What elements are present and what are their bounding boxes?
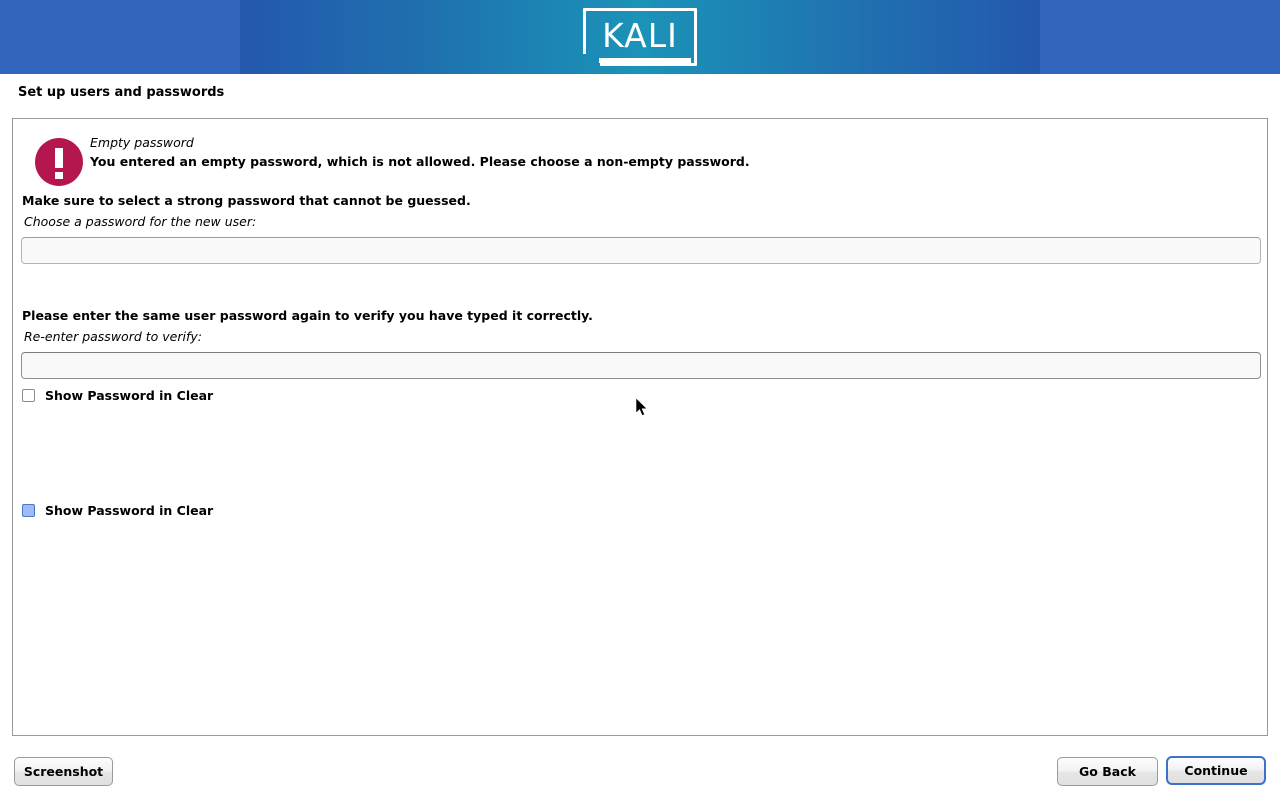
alert-message: You entered an empty password, which is … xyxy=(90,154,750,169)
exclamation-stem xyxy=(55,148,63,168)
installer-header-banner: KALI xyxy=(0,0,1280,74)
kali-logo: KALI xyxy=(583,8,697,66)
verify-password-input[interactable] xyxy=(21,352,1261,379)
continue-button[interactable]: Continue xyxy=(1166,756,1266,785)
page-title: Set up users and passwords xyxy=(18,85,224,100)
show-password-clear-checkbox-1[interactable] xyxy=(22,389,35,402)
exclamation-dot xyxy=(55,172,63,179)
show-password-clear-row-2[interactable]: Show Password in Clear xyxy=(22,503,213,518)
installer-content-panel: Empty password You entered an empty pass… xyxy=(12,118,1268,736)
show-password-clear-label-2: Show Password in Clear xyxy=(45,503,213,518)
password-heading: Make sure to select a strong password th… xyxy=(22,193,471,208)
show-password-clear-row-1[interactable]: Show Password in Clear xyxy=(22,388,213,403)
mouse-cursor xyxy=(636,398,650,418)
verify-heading: Please enter the same user password agai… xyxy=(22,308,593,323)
show-password-clear-checkbox-2[interactable] xyxy=(22,504,35,517)
screenshot-button[interactable]: Screenshot xyxy=(14,757,113,786)
go-back-button[interactable]: Go Back xyxy=(1057,757,1158,786)
password-field-label: Choose a password for the new user: xyxy=(24,214,256,229)
verify-field-label: Re-enter password to verify: xyxy=(24,329,202,344)
show-password-clear-label-1: Show Password in Clear xyxy=(45,388,213,403)
kali-logo-text: KALI xyxy=(583,8,697,66)
password-input[interactable] xyxy=(21,237,1261,264)
alert-title: Empty password xyxy=(90,135,194,150)
error-exclamation-icon xyxy=(35,138,83,186)
